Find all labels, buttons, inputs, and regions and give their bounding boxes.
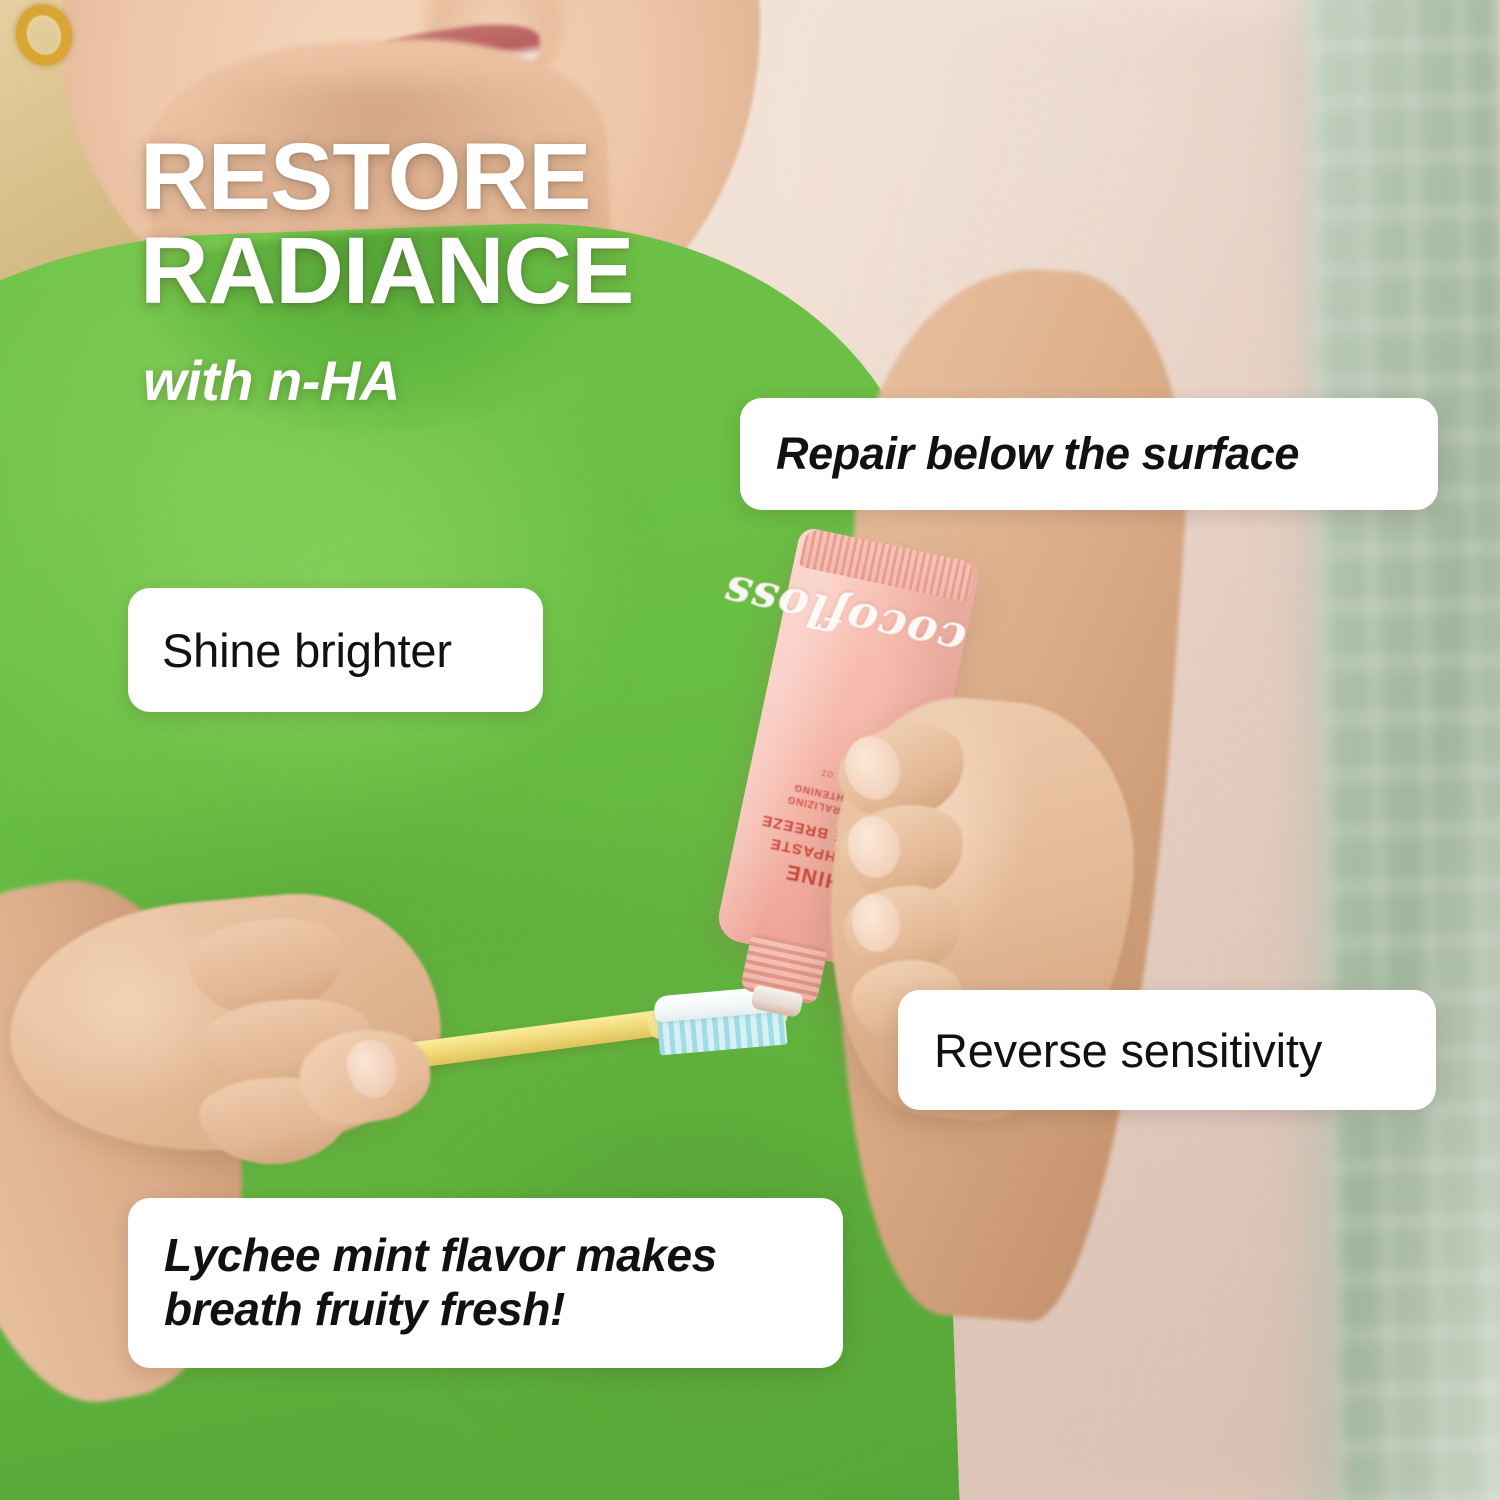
product-marketing-image: cocofloss SHINE TOOTHPASTE LYCHEE BREEZE…	[0, 0, 1500, 1500]
callout-lychee-label: Lychee mint flavor makes breath fruity f…	[164, 1229, 807, 1337]
checkered-towel	[1307, 0, 1500, 1500]
callout-repair-below-the-surface: Repair below the surface	[740, 398, 1438, 510]
subheadline: with n-HA	[143, 348, 400, 413]
callout-lychee-mint-flavor: Lychee mint flavor makes breath fruity f…	[128, 1198, 843, 1368]
callout-reverse-label: Reverse sensitivity	[934, 1023, 1400, 1078]
callout-shine-brighter: Shine brighter	[128, 588, 543, 712]
callout-repair-label: Repair below the surface	[776, 428, 1402, 480]
callout-reverse-sensitivity: Reverse sensitivity	[898, 990, 1436, 1110]
headline: RESTORE RADIANCE	[140, 130, 633, 318]
callout-shine-label: Shine brighter	[162, 623, 509, 678]
